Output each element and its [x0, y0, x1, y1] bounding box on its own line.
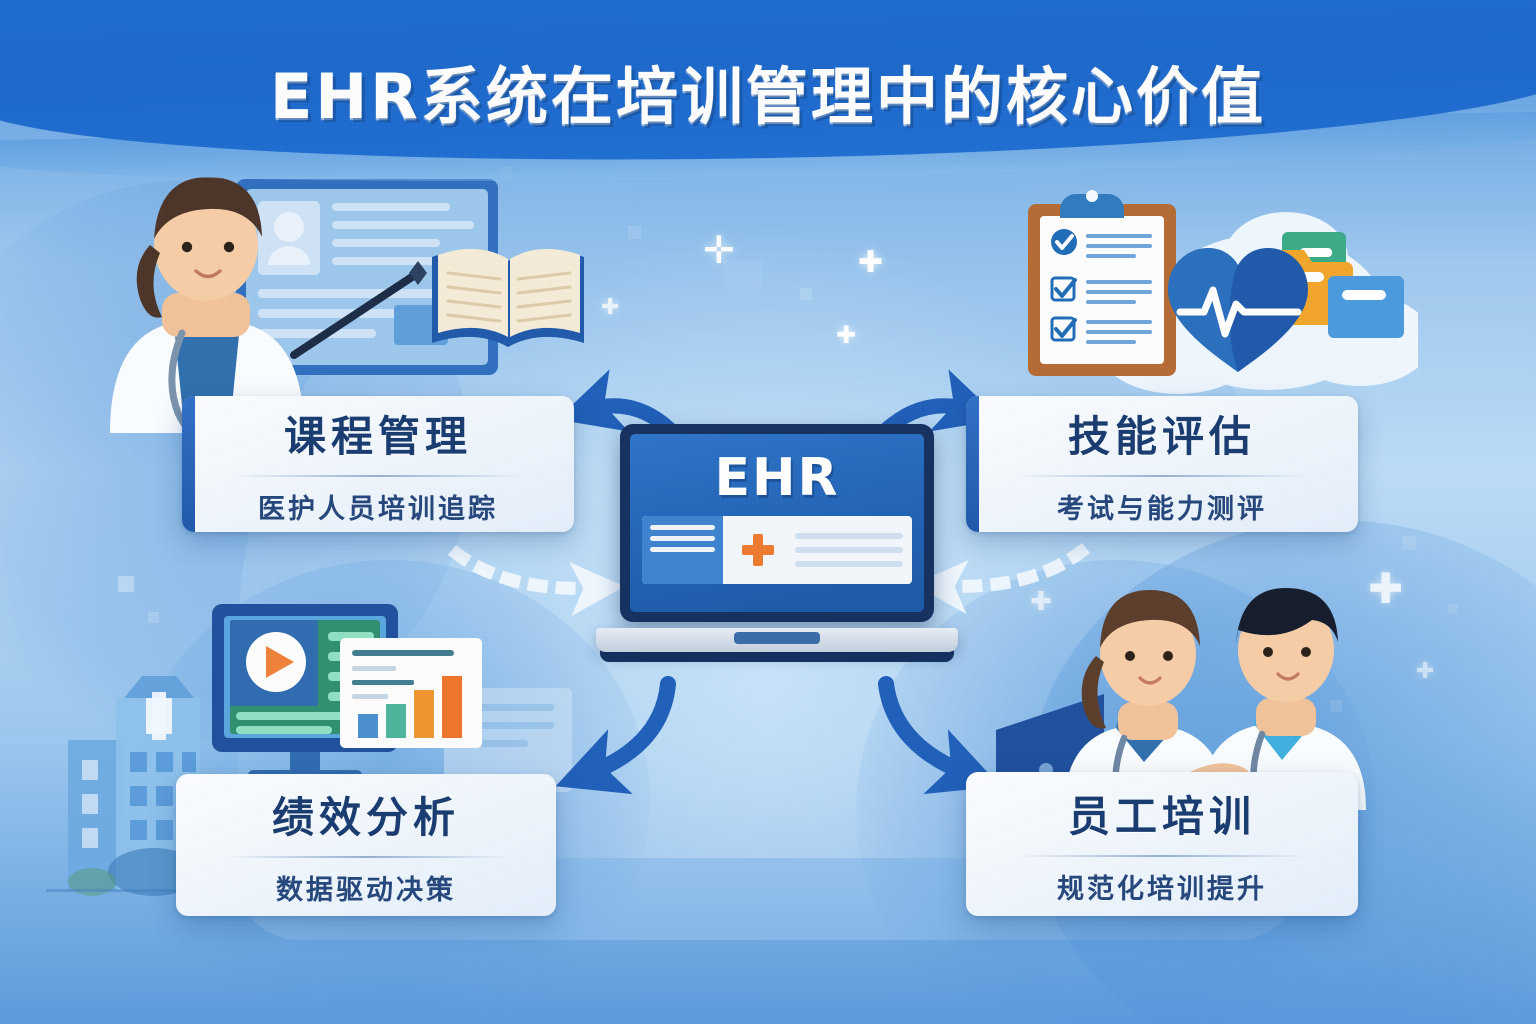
illustration-skills-assessment — [968, 172, 1418, 410]
plus-sparkle-icon: ✚ — [836, 324, 856, 348]
particle-square — [1402, 536, 1416, 550]
ehr-laptop: EHR — [596, 424, 958, 674]
page-title: EHR系统在培训管理中的核心价值 — [0, 46, 1536, 136]
plus-sparkle-icon: ✚ — [1416, 660, 1434, 682]
card-title: 绩效分析 — [272, 784, 460, 845]
particle-square — [148, 612, 159, 623]
particle-square — [628, 226, 641, 239]
card-subtitle: 考试与能力测评 — [1057, 487, 1267, 526]
card-divider — [1017, 855, 1307, 857]
card-skills-assessment[interactable]: 技能评估 考试与能力测评 — [966, 396, 1358, 532]
illustration-performance-analysis — [186, 592, 586, 802]
plus-sparkle-icon: ✚ — [858, 248, 883, 278]
card-subtitle: 数据驱动决策 — [276, 868, 456, 907]
ehr-label: EHR — [714, 452, 839, 504]
card-title: 课程管理 — [284, 403, 472, 464]
plus-sparkle-icon: ✚ — [601, 296, 619, 318]
laptop-base — [596, 628, 958, 652]
card-divider — [233, 475, 523, 477]
particle-square — [1448, 604, 1458, 614]
card-divider — [1017, 475, 1307, 477]
medical-cross-icon — [742, 534, 774, 566]
panel-text-lines — [793, 516, 912, 584]
panel-icon-slot — [723, 516, 793, 584]
card-accent-bar — [966, 396, 979, 532]
card-divider — [225, 856, 506, 858]
panel-sidebar — [642, 516, 723, 584]
card-staff-training[interactable]: 员工培训 规范化培训提升 — [966, 772, 1358, 916]
card-accent-bar — [182, 396, 195, 532]
infographic-canvas: ✛ ✚ ✚ ✚ ✚ ✚ ✚ ✚ — [0, 0, 1536, 1024]
illustration-course-management — [88, 165, 588, 435]
plus-sparkle-icon: ✛ — [703, 232, 735, 270]
card-title: 员工培训 — [1068, 783, 1256, 844]
particle-square — [800, 288, 812, 300]
card-course-management[interactable]: 课程管理 医护人员培训追踪 — [182, 396, 574, 532]
particle-square — [118, 576, 134, 592]
card-subtitle: 医护人员培训追踪 — [258, 487, 498, 526]
card-performance-analysis[interactable]: 绩效分析 数据驱动决策 — [176, 774, 556, 916]
laptop-screen: EHR — [630, 434, 924, 612]
card-subtitle: 规范化培训提升 — [1057, 867, 1267, 906]
laptop-lid: EHR — [620, 424, 934, 622]
card-title: 技能评估 — [1068, 403, 1256, 464]
ehr-record-panel — [642, 516, 912, 584]
